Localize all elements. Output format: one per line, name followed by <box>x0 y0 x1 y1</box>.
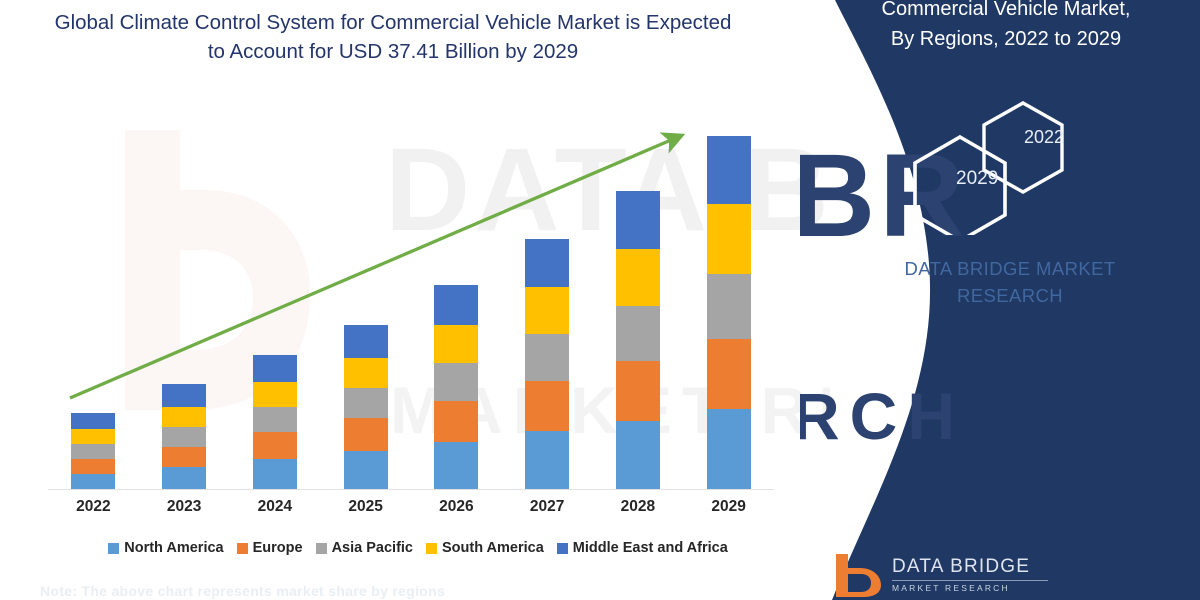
bar-segment <box>525 431 569 489</box>
bar-segment <box>616 249 660 306</box>
footer-logo-subtitle: MARKET RESEARCH <box>892 583 1048 593</box>
bar-slot-2029 <box>683 110 774 489</box>
bar-slot-2027 <box>502 110 593 489</box>
bar-segment <box>344 325 388 358</box>
panel-title-line2: By Regions, 2022 to 2029 <box>891 28 1121 50</box>
bar-segment <box>162 407 206 427</box>
bar-segment <box>616 306 660 361</box>
bar-segment <box>434 363 478 401</box>
bar-segment <box>707 204 751 274</box>
bar-segment <box>434 401 478 442</box>
bar-segment <box>253 459 297 489</box>
panel-watermark-2: RCH <box>800 378 965 454</box>
bar-segment <box>525 334 569 381</box>
x-axis-labels: 20222023202420252026202720282029 <box>48 498 774 516</box>
footer-logo-text: DATA BRIDGE MARKET RESEARCH <box>892 556 1048 593</box>
footer-logo-rule <box>892 580 1048 581</box>
x-axis-tick-2027: 2027 <box>502 498 593 516</box>
stacked-bar-2027[interactable] <box>525 239 569 489</box>
bar-slot-2028 <box>593 110 684 489</box>
brand-text: DATA BRIDGE MARKET RESEARCH <box>860 255 1160 309</box>
legend-swatch-icon <box>237 543 248 554</box>
legend-swatch-icon <box>108 543 119 554</box>
bar-segment <box>71 459 115 474</box>
footer-logo-name: DATA BRIDGE <box>892 556 1048 578</box>
bar-segment <box>707 136 751 204</box>
bottom-cut-text: Note: The above chart represents market … <box>40 583 560 600</box>
bar-segment <box>71 413 115 429</box>
bar-segment <box>616 191 660 249</box>
bar-segment <box>344 418 388 451</box>
bar-segment <box>162 467 206 489</box>
chart-panel: DATA BRIDGE MARKET RESEARCH Global Clima… <box>0 0 830 600</box>
x-axis-tick-2029: 2029 <box>683 498 774 516</box>
stacked-bar-2024[interactable] <box>253 355 297 489</box>
bar-segment <box>344 358 388 388</box>
panel-title: Commercial Vehicle Market, By Regions, 2… <box>822 0 1190 54</box>
chart-legend: North AmericaEuropeAsia PacificSouth Ame… <box>48 540 788 556</box>
legend-swatch-icon <box>316 543 327 554</box>
bar-slot-2025 <box>320 110 411 489</box>
bar-segment <box>162 427 206 447</box>
legend-label: Europe <box>253 540 303 556</box>
legend-label: Asia Pacific <box>332 540 413 556</box>
footer-logo: DATA BRIDGE MARKET RESEARCH <box>830 552 1160 600</box>
bridge-b-logo-icon <box>830 552 886 598</box>
panel-title-line1: Commercial Vehicle Market, <box>882 0 1131 20</box>
x-axis-tick-2026: 2026 <box>411 498 502 516</box>
bar-segment <box>434 442 478 489</box>
x-axis-tick-2025: 2025 <box>320 498 411 516</box>
bar-segment <box>616 361 660 421</box>
hexagon-2029-label: 2029 <box>956 168 998 190</box>
axis-baseline <box>48 489 774 490</box>
brand-line1: DATA BRIDGE MARKET <box>904 258 1115 279</box>
legend-label: North America <box>124 540 223 556</box>
infographic-canvas: DATA BRIDGE MARKET RESEARCH Global Clima… <box>0 0 1200 600</box>
legend-item[interactable]: North America <box>108 540 223 556</box>
bar-slot-2022 <box>48 110 139 489</box>
legend-label: South America <box>442 540 544 556</box>
legend-item[interactable]: South America <box>426 540 544 556</box>
bar-slot-2023 <box>139 110 230 489</box>
bar-segment <box>162 447 206 467</box>
bar-segment <box>71 444 115 459</box>
bar-segment <box>344 388 388 418</box>
legend-swatch-icon <box>426 543 437 554</box>
stacked-bar-2029[interactable] <box>707 136 751 489</box>
bar-segment <box>525 239 569 287</box>
bar-segment <box>71 429 115 444</box>
bar-segment <box>707 339 751 409</box>
hexagon-2022-label: 2022 <box>1024 127 1064 148</box>
hexagon-pair-graphic <box>910 95 1160 235</box>
brand-line2: RESEARCH <box>957 285 1063 306</box>
bar-segment <box>525 381 569 431</box>
bar-segment <box>434 325 478 363</box>
branding-panel: BR RCH Commercial Vehicle Market, By Reg… <box>800 0 1200 600</box>
x-axis-tick-2028: 2028 <box>593 498 684 516</box>
bar-segment <box>707 409 751 489</box>
bar-segment <box>344 451 388 489</box>
plot-area <box>48 110 788 490</box>
stacked-bar-2025[interactable] <box>344 325 388 489</box>
stacked-bar-2022[interactable] <box>71 413 115 489</box>
bar-slot-2026 <box>411 110 502 489</box>
bar-slot-2024 <box>230 110 321 489</box>
x-axis-tick-2024: 2024 <box>230 498 321 516</box>
stacked-bar-2023[interactable] <box>162 384 206 489</box>
bar-segment <box>71 474 115 489</box>
legend-swatch-icon <box>557 543 568 554</box>
bar-segment <box>253 355 297 382</box>
legend-item[interactable]: Middle East and Africa <box>557 540 728 556</box>
bar-segment <box>162 384 206 407</box>
legend-label: Middle East and Africa <box>573 540 728 556</box>
bar-segment <box>253 407 297 432</box>
bar-group <box>48 110 774 489</box>
bar-segment <box>434 285 478 325</box>
chart-title: Global Climate Control System for Commer… <box>48 8 738 66</box>
bar-segment <box>707 274 751 339</box>
bar-segment <box>616 421 660 489</box>
bar-segment <box>253 432 297 459</box>
stacked-bar-2028[interactable] <box>616 191 660 489</box>
bar-segment <box>253 382 297 407</box>
legend-item[interactable]: Europe <box>237 540 303 556</box>
legend-item[interactable]: Asia Pacific <box>316 540 413 556</box>
x-axis-tick-2023: 2023 <box>139 498 230 516</box>
stacked-bar-2026[interactable] <box>434 285 478 489</box>
bar-segment <box>525 287 569 334</box>
x-axis-tick-2022: 2022 <box>48 498 139 516</box>
